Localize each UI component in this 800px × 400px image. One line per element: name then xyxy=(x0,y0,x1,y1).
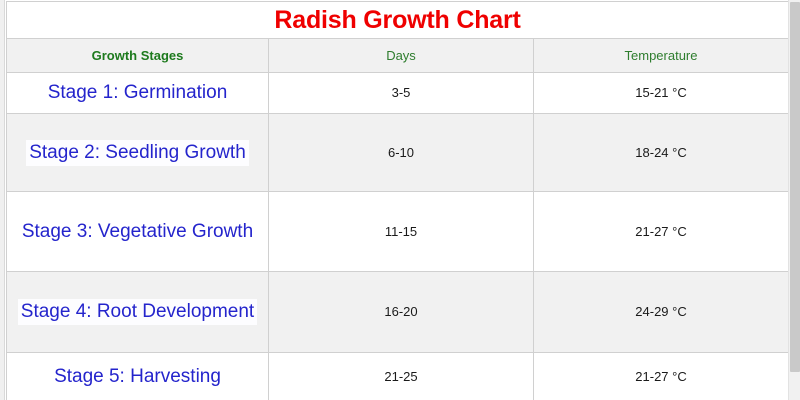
cell-days: 6-10 xyxy=(269,114,534,192)
growth-chart-table-container: Radish Growth Chart Growth Stages Days T… xyxy=(6,1,788,400)
days-value: 11-15 xyxy=(385,223,417,241)
days-value: 3-5 xyxy=(392,84,411,102)
cell-days: 11-15 xyxy=(269,192,534,272)
stage-label: Stage 4: Root Development xyxy=(18,299,257,325)
column-header-growth-stages[interactable]: Growth Stages xyxy=(7,39,269,73)
cell-stage: Stage 3: Vegetative Growth xyxy=(7,192,269,272)
table-row: Stage 4: Root Development 16-20 24-29 °C xyxy=(7,272,789,353)
days-value: 16-20 xyxy=(384,303,417,321)
stage-label: Stage 2: Seedling Growth xyxy=(26,140,249,166)
days-value: 6-10 xyxy=(388,144,414,162)
cell-temperature: 15-21 °C xyxy=(534,73,789,114)
temperature-value: 21-27 °C xyxy=(635,223,686,241)
cell-days: 21-25 xyxy=(269,353,534,400)
vertical-scrollbar-thumb[interactable] xyxy=(790,2,800,372)
table-row: Stage 5: Harvesting 21-25 21-27 °C xyxy=(7,353,789,400)
cell-stage: Stage 1: Germination xyxy=(7,73,269,114)
stage-label: Stage 1: Germination xyxy=(45,80,231,106)
cell-stage: Stage 2: Seedling Growth xyxy=(7,114,269,192)
column-header-temperature[interactable]: Temperature xyxy=(534,39,789,73)
cell-days: 3-5 xyxy=(269,73,534,114)
cell-temperature: 24-29 °C xyxy=(534,272,789,353)
table-row: Stage 1: Germination 3-5 15-21 °C xyxy=(7,73,789,114)
cell-temperature: 18-24 °C xyxy=(534,114,789,192)
vertical-scrollbar[interactable] xyxy=(788,0,800,400)
cell-stage: Stage 4: Root Development xyxy=(7,272,269,353)
column-header-label: Growth Stages xyxy=(92,48,184,63)
column-header-days[interactable]: Days xyxy=(269,39,534,73)
page-title: Radish Growth Chart xyxy=(274,3,520,37)
table-title-row: Radish Growth Chart xyxy=(7,2,789,39)
cell-temperature: 21-27 °C xyxy=(534,353,789,400)
temperature-value: 24-29 °C xyxy=(635,303,686,321)
temperature-value: 21-27 °C xyxy=(635,368,686,386)
stage-label: Stage 5: Harvesting xyxy=(51,364,224,390)
table-header-row: Growth Stages Days Temperature xyxy=(7,39,789,73)
column-header-label: Temperature xyxy=(625,48,698,63)
stage-label: Stage 3: Vegetative Growth xyxy=(19,219,256,245)
page-viewport: Radish Growth Chart Growth Stages Days T… xyxy=(0,0,800,400)
cell-days: 16-20 xyxy=(269,272,534,353)
days-value: 21-25 xyxy=(384,368,417,386)
table-row: Stage 2: Seedling Growth 6-10 18-24 °C xyxy=(7,114,789,192)
column-header-label: Days xyxy=(386,48,416,63)
cell-stage: Stage 5: Harvesting xyxy=(7,353,269,400)
temperature-value: 15-21 °C xyxy=(635,84,686,102)
table-row: Stage 3: Vegetative Growth 11-15 21-27 °… xyxy=(7,192,789,272)
temperature-value: 18-24 °C xyxy=(635,144,686,162)
growth-chart-table: Radish Growth Chart Growth Stages Days T… xyxy=(6,1,788,400)
page-title-cell: Radish Growth Chart xyxy=(7,2,789,39)
cell-temperature: 21-27 °C xyxy=(534,192,789,272)
page-left-gutter xyxy=(0,0,5,400)
